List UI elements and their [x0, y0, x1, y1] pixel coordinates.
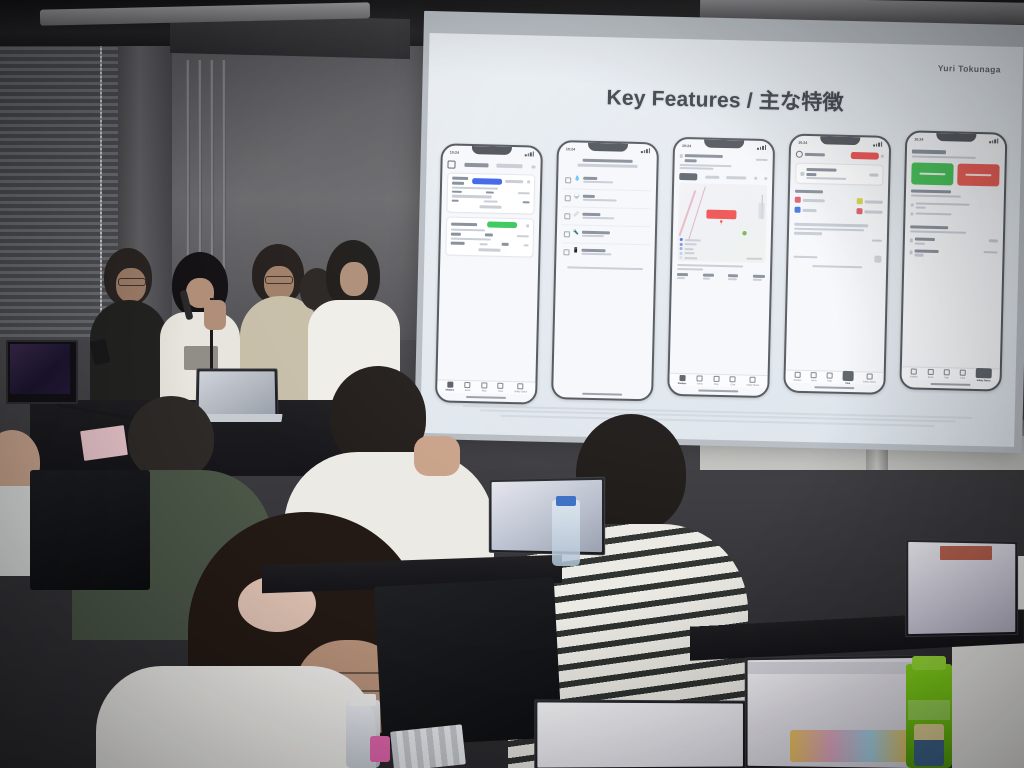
safety-icon [750, 377, 756, 383]
pink-notebook [80, 425, 128, 461]
shelter-distance-row [452, 190, 530, 194]
laptop-screen [537, 702, 743, 767]
slide-author: Yuri Tokunaga [938, 63, 1001, 74]
checkbox[interactable] [565, 177, 571, 183]
app-logo-icon [796, 151, 803, 158]
tab-map[interactable]: Map [826, 373, 832, 383]
contact-status-unknown [984, 251, 998, 254]
app-header [447, 160, 535, 170]
question-chip-shelter-info[interactable] [857, 199, 883, 206]
signal-icon [873, 142, 882, 147]
status-row-updated [910, 212, 998, 217]
phone-screen [902, 144, 1005, 371]
safety-status-title [912, 149, 946, 153]
items-icon [811, 372, 817, 378]
slide-title: Key Features / 主な特徴 [428, 77, 1023, 121]
water-icon: 💧 [574, 176, 580, 181]
home-indicator [466, 396, 506, 399]
laptop-screen [492, 480, 602, 552]
map-callout [706, 210, 736, 220]
question-chip-contact-family[interactable] [856, 209, 882, 216]
phone-screen: 📍 🟢 [670, 151, 773, 378]
food-icon: 🍚 [574, 194, 580, 199]
flashlight-icon: 🔦 [573, 230, 579, 235]
home-indicator [814, 386, 854, 389]
contact-row[interactable] [909, 249, 997, 258]
open-chat-button[interactable] [869, 174, 878, 177]
presenter-2-hand [204, 300, 226, 330]
home-indicator [582, 393, 622, 396]
filter-icon[interactable] [754, 177, 757, 180]
menu-icon[interactable] [447, 160, 455, 168]
safety-icon [866, 374, 872, 380]
back-icon[interactable] [680, 154, 683, 158]
checkbox[interactable] [564, 213, 570, 219]
presenter-laptop [195, 368, 278, 418]
location-icon [911, 203, 914, 206]
items-icon [697, 376, 703, 382]
shelter-icon [794, 372, 800, 378]
status-badge-open [472, 178, 502, 185]
checkbox[interactable] [565, 195, 571, 201]
status-time: 10:24 [450, 150, 459, 154]
status-time: 10:24 [682, 144, 691, 148]
status-time: 10:24 [566, 147, 575, 151]
tab-safety-status[interactable]: Safety Status [863, 374, 876, 384]
tab-chat[interactable]: Chat [497, 383, 503, 393]
pill-sheet [390, 724, 466, 768]
map-header [680, 154, 768, 164]
pink-item [370, 736, 390, 762]
laptop-bottom-left [534, 699, 746, 768]
support-chat-card[interactable] [795, 163, 883, 186]
tab-supply-points[interactable] [497, 164, 523, 169]
bookmark-icon[interactable] [527, 181, 530, 184]
map-icon [713, 376, 719, 382]
shelter-icon [679, 375, 685, 381]
tab-shelters[interactable]: Shelters [678, 375, 687, 385]
home-indicator [698, 389, 738, 392]
more-icon[interactable] [531, 165, 535, 168]
shelter-icon [911, 369, 917, 375]
shelter-card-2-head [451, 221, 529, 229]
laptop-bottom-right-content [790, 730, 910, 762]
tab-map[interactable]: Map [713, 376, 719, 386]
avatar [910, 239, 913, 243]
chat-icon [960, 370, 966, 376]
map-icon [481, 383, 487, 389]
phone-mockup-map: 10:24 [667, 137, 775, 398]
map-pin-icon: 📍 [718, 221, 724, 227]
signal-icon [757, 145, 766, 150]
tab-shelters[interactable]: Shelters [910, 369, 918, 379]
contact-row[interactable] [910, 238, 998, 247]
items-icon [928, 369, 934, 375]
send-button[interactable] [874, 255, 881, 262]
items-header-sub [578, 164, 638, 168]
phone-mockup-items: 10:24 💧 🍚 [551, 140, 659, 401]
list-item[interactable]: 🩹 [562, 207, 650, 227]
bottom-tab-bar: Shelters Items Map Chat Safety Status [437, 379, 535, 394]
list-item[interactable]: 🍚 [563, 189, 651, 209]
question-chip-row [794, 207, 882, 215]
tab-items[interactable]: Items [697, 376, 703, 386]
phone-screen [786, 148, 889, 375]
status-badge-available [487, 221, 517, 228]
tab-chat[interactable]: Chat [960, 370, 966, 380]
shelter-card-head [452, 177, 530, 186]
tab-items[interactable]: Items [465, 382, 471, 392]
presenter-1-glasses-icon [118, 278, 146, 286]
shelter2-distance-row [451, 233, 529, 237]
presenter-4-face [340, 262, 368, 296]
slide-surface: Yuri Tokunaga Key Features / 主な特徴 10:24 [420, 33, 1023, 447]
chat-app-header [796, 151, 884, 160]
map-stats-row [677, 273, 765, 281]
tab-chat[interactable]: Chat [730, 376, 736, 386]
monitor-left-screen [10, 344, 70, 394]
disaster-message-title [911, 189, 951, 193]
safety-icon [517, 383, 523, 389]
laptop-center [489, 477, 605, 556]
avatar [910, 250, 913, 254]
signal-icon [641, 148, 650, 153]
tab-map[interactable]: Map [481, 383, 487, 393]
list-item[interactable]: 💧 [563, 171, 651, 191]
segment-routes[interactable] [726, 176, 746, 179]
shelter-card[interactable] [446, 172, 535, 214]
map-legend [679, 238, 700, 259]
layers-button[interactable] [756, 158, 768, 161]
map-icon [944, 369, 950, 375]
list-item[interactable]: 📱 [561, 243, 649, 262]
tab-safety-status[interactable]: Safety Status [514, 383, 527, 393]
chat-icon [730, 376, 736, 382]
status-row-location [911, 202, 999, 210]
chat-icon [498, 383, 504, 389]
laptop-screen [199, 371, 276, 415]
phone-mockup-chat: 10:24 [783, 134, 891, 395]
items-header-title [583, 159, 633, 164]
hazard-map[interactable]: 📍 🟢 [677, 183, 767, 263]
laptop-bottom-right-toolbar [748, 662, 924, 674]
bottom-tab-bar: Shelters Items Map Chat Safety Status [785, 370, 883, 385]
green-tea-bottle-label [908, 700, 950, 720]
signal-icon [525, 151, 534, 156]
blind-pull-cord [100, 44, 102, 314]
water-bottle-center-cap [556, 496, 576, 506]
tab-safety-status[interactable]: Safety Status [976, 368, 992, 382]
settings-icon[interactable] [881, 155, 884, 158]
safety-icon [976, 368, 992, 378]
common-questions-title [795, 190, 823, 194]
app-name-label [805, 153, 825, 157]
battery-icon: 📱 [572, 248, 578, 253]
shelter-card-2[interactable] [445, 217, 534, 258]
green-tea-bottle-illustration [914, 724, 944, 766]
clock-icon [910, 212, 913, 215]
items-icon [465, 382, 471, 388]
screenshot-root: Yuri Tokunaga Key Features / 主な特徴 10:24 [0, 0, 1024, 768]
audience-3-head [330, 366, 426, 466]
bottom-tab-bar: Shelters Items Map Chat Safety Status [669, 373, 767, 388]
chat-message-bubble [794, 223, 882, 241]
signal-icon [990, 138, 999, 143]
phone-mockup-shelters: 10:24 [435, 143, 543, 404]
chat-input-field[interactable] [793, 255, 817, 258]
support-chat-row [800, 168, 878, 181]
first-aid-icon: 🩹 [573, 212, 579, 217]
tab-items[interactable]: Items [928, 369, 934, 379]
map-pin-icon-2: 🟢 [742, 231, 747, 236]
phone-screen [437, 157, 540, 384]
segment-shelters[interactable] [705, 176, 719, 179]
tab-shelters[interactable]: Shelters [793, 372, 801, 382]
contact-status-safe [989, 239, 998, 242]
shelter-icon [447, 382, 453, 388]
laptop-right-upper-header [940, 546, 992, 560]
chat-bubble-icon [800, 171, 804, 175]
tab-chat[interactable]: Chat [842, 371, 853, 385]
shelter-type-label [505, 180, 523, 183]
presenter-3-glasses-icon [265, 276, 293, 284]
window-blinds [0, 40, 120, 340]
contacts-safety-title [910, 225, 948, 229]
question-chip-row [795, 197, 883, 205]
im-safe-button[interactable] [911, 162, 954, 185]
safety-status-sub [912, 155, 976, 159]
tab-shelters[interactable] [464, 163, 488, 168]
slide-footnote [447, 404, 989, 430]
phone-mockup-safety-status: 10:24 [899, 130, 1007, 391]
map-segment-control [679, 173, 767, 182]
tab-map[interactable]: Map [944, 369, 950, 379]
shelter2-capacity-row [451, 242, 529, 246]
green-tea-bottle-cap [912, 656, 946, 670]
phone-mockup-row: 10:24 [435, 129, 1007, 402]
segment-hazard[interactable] [679, 173, 697, 180]
question-chip-evacuation-route[interactable] [795, 197, 825, 204]
phone-screen: 💧 🍚 🩹 🔦 [553, 154, 656, 381]
list-item[interactable]: 🔦 [562, 225, 650, 245]
checkbox[interactable] [563, 249, 569, 255]
laptop-left-foreground [30, 470, 150, 590]
emergency-badge [851, 152, 879, 160]
need-help-button[interactable] [957, 163, 1000, 186]
tab-safety-status[interactable]: Safety Status [746, 377, 759, 387]
chat-input-row [793, 253, 881, 262]
audience-3-hand [414, 436, 460, 476]
checkbox[interactable] [564, 231, 570, 237]
home-indicator [930, 383, 970, 386]
status-time: 10:24 [798, 140, 807, 144]
water-bottle-foreground-cap [350, 694, 376, 706]
bottom-tab-bar: Shelters Items Map Chat Safety Status [902, 366, 1000, 381]
audience-2-head [128, 396, 214, 480]
tab-items[interactable]: Items [811, 372, 817, 382]
locate-icon[interactable] [764, 177, 767, 180]
projection-screen: Yuri Tokunaga Key Features / 主な特徴 10:24 [414, 11, 1024, 453]
audience-5-body [96, 666, 376, 768]
status-time: 10:24 [914, 137, 923, 141]
chat-icon [842, 371, 853, 381]
tab-shelters[interactable]: Shelters [445, 382, 454, 392]
water-bottle-center [552, 500, 580, 566]
shelter-title [452, 177, 468, 185]
shelter-capacity-row [452, 199, 530, 203]
question-chip-supplies[interactable] [794, 207, 816, 214]
map-icon [827, 373, 833, 379]
